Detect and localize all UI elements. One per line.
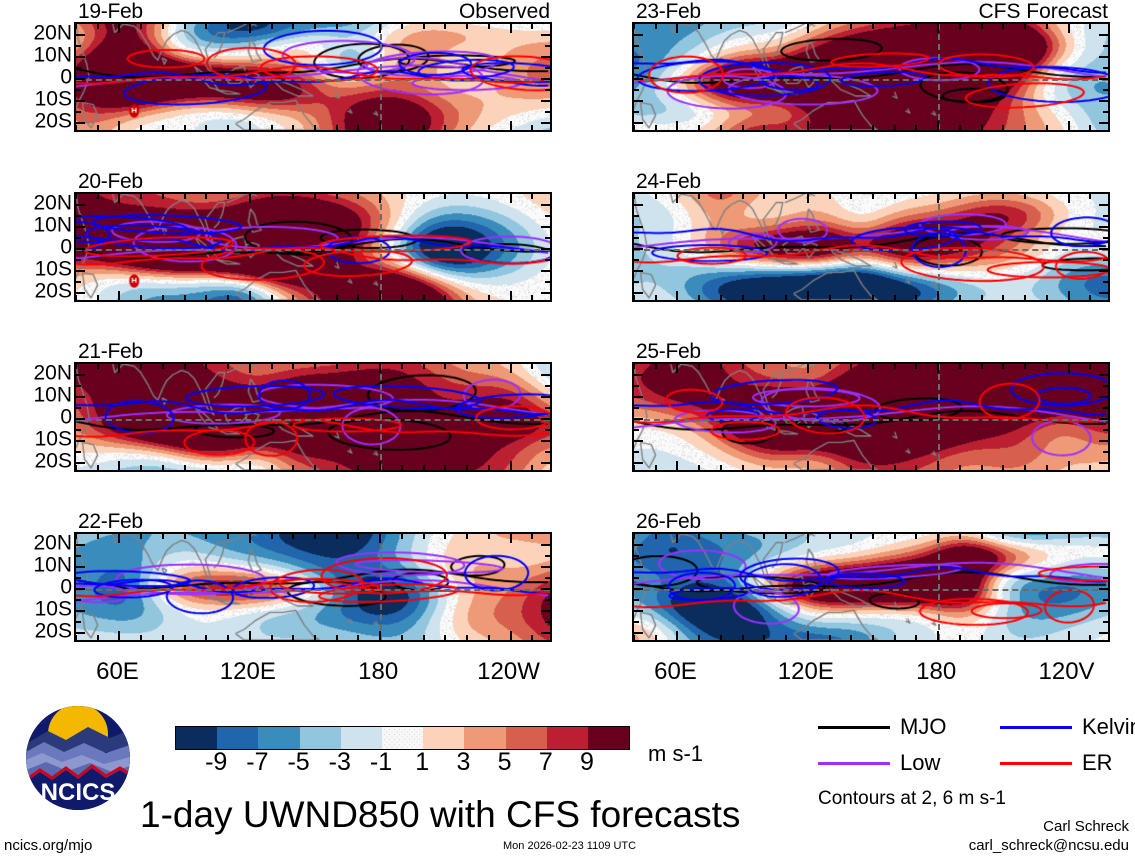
x-tick (531, 534, 533, 539)
panel-field (634, 364, 1108, 470)
y-tick-minor (1103, 259, 1108, 261)
x-tick (1068, 194, 1070, 203)
contour-note: Contours at 2, 6 m s-1 (818, 789, 1006, 809)
colorbar-segment (258, 727, 299, 749)
x-tick (655, 295, 657, 300)
x-tick (227, 465, 229, 470)
y-tick-minor (634, 451, 639, 453)
x-tick-label: 120W (477, 658, 540, 686)
x-tick (633, 364, 635, 369)
x-tick (357, 24, 359, 29)
colorbar-segment (464, 727, 505, 749)
x-tick (850, 635, 852, 640)
legend-line-swatch (818, 726, 890, 729)
y-tick-minor (76, 45, 81, 47)
x-tick (894, 295, 896, 300)
y-tick-minor (76, 407, 81, 409)
x-tick (184, 125, 186, 130)
x-tick (676, 291, 678, 300)
x-tick (655, 364, 657, 369)
x-tick (249, 364, 251, 373)
x-tick (763, 295, 765, 300)
x-tick (205, 635, 207, 640)
x-tick (720, 24, 722, 29)
y-tick-minor (76, 281, 81, 283)
y-tick-minor (545, 451, 550, 453)
x-tick (785, 24, 787, 29)
y-tick-label: 10S (35, 599, 72, 620)
y-tick-minor (1103, 555, 1108, 557)
y-tick-minor (634, 599, 639, 601)
x-tick (1002, 635, 1004, 640)
x-tick (401, 465, 403, 470)
x-tick (698, 465, 700, 470)
x-tick (959, 534, 961, 539)
x-tick (227, 635, 229, 640)
y-tick (76, 100, 85, 102)
x-tick (423, 194, 425, 199)
panel-date-label: 21-Feb (78, 341, 143, 362)
x-tick (75, 635, 77, 640)
x-tick (698, 635, 700, 640)
x-tick (205, 125, 207, 130)
x-tick (1024, 635, 1026, 640)
panel-date-label: 24-Feb (636, 171, 701, 192)
x-tick (97, 534, 99, 539)
y-tick (1099, 100, 1108, 102)
colorbar-tick-label: -5 (287, 748, 309, 776)
x-tick (1002, 194, 1004, 199)
colorbar-tick-label: -9 (205, 748, 227, 776)
x-tick (872, 534, 874, 539)
x-tick (401, 295, 403, 300)
y-tick (76, 588, 85, 590)
x-tick (97, 295, 99, 300)
y-tick-minor (634, 555, 639, 557)
x-tick (829, 534, 831, 539)
x-tick (118, 534, 120, 543)
x-tick (227, 534, 229, 539)
y-tick-minor (76, 385, 81, 387)
x-tick (249, 291, 251, 300)
x-tick (444, 534, 446, 539)
y-tick-minor (634, 215, 639, 217)
x-tick (981, 465, 983, 470)
x-tick (292, 125, 294, 130)
x-tick (510, 121, 512, 130)
x-tick (1089, 125, 1091, 130)
x-tick (698, 534, 700, 539)
x-tick (829, 24, 831, 29)
x-tick (423, 534, 425, 539)
y-tick-minor (545, 111, 550, 113)
x-tick (763, 635, 765, 640)
x-tick (379, 534, 381, 543)
equator-line (634, 249, 1108, 251)
x-tick (401, 534, 403, 539)
dateline-marker (380, 24, 382, 130)
x-tick (184, 364, 186, 369)
y-tick (76, 374, 85, 376)
x-tick (915, 534, 917, 539)
x-tick (75, 125, 77, 130)
panel-21-feb: 21-Feb (74, 362, 552, 472)
x-tick (227, 295, 229, 300)
x-tick (1002, 125, 1004, 130)
x-tick (850, 125, 852, 130)
x-tick (118, 291, 120, 300)
y-tick (541, 440, 550, 442)
y-tick-minor (76, 599, 81, 601)
x-tick (292, 534, 294, 539)
logo-text: NCICS (41, 779, 116, 806)
x-tick (829, 125, 831, 130)
x-tick (184, 295, 186, 300)
x-tick (510, 194, 512, 203)
panel-date-label: 23-Feb (636, 1, 701, 22)
y-tick-minor (76, 67, 81, 69)
x-tick (379, 121, 381, 130)
x-tick (655, 125, 657, 130)
timestamp: Mon 2026-02-23 1109 UTC (503, 840, 636, 852)
x-tick (444, 364, 446, 369)
y-tick (76, 462, 85, 464)
x-axis-left: 60E120E180120W (74, 658, 552, 688)
x-tick (118, 24, 120, 33)
x-tick (1024, 194, 1026, 199)
panel-date-label: 25-Feb (636, 341, 701, 362)
y-tick-minor (1103, 237, 1108, 239)
y-tick (634, 610, 643, 612)
x-tick (162, 465, 164, 470)
x-tick (227, 194, 229, 199)
x-tick (510, 24, 512, 33)
y-tick-minor (545, 577, 550, 579)
y-tick-minor (545, 281, 550, 283)
x-tick (850, 24, 852, 29)
x-tick (271, 194, 273, 199)
y-tick-minor (634, 45, 639, 47)
x-tick (1068, 534, 1070, 543)
x-tick (698, 295, 700, 300)
y-tick-minor (76, 577, 81, 579)
x-tick (829, 364, 831, 369)
x-tick (872, 465, 874, 470)
panel-plot-area (632, 22, 1110, 132)
x-tick (140, 635, 142, 640)
x-tick (937, 291, 939, 300)
x-tick (75, 364, 77, 369)
y-tick (541, 226, 550, 228)
y-tick-minor (634, 621, 639, 623)
y-tick-minor (1103, 67, 1108, 69)
x-tick (676, 194, 678, 203)
panel-grid: 19-FebObserved20N10N010S20S20-Feb20N10N0… (0, 0, 1135, 660)
author-name: Carl Schreck (1043, 818, 1129, 835)
y-tick-label: 0 (60, 67, 72, 88)
panel-date-label: 22-Feb (78, 511, 143, 532)
x-tick (981, 635, 983, 640)
y-axis: 20N10N010S20S (0, 192, 72, 302)
y-tick (634, 56, 643, 58)
x-tick (894, 635, 896, 640)
y-tick-minor (76, 89, 81, 91)
y-tick (541, 566, 550, 568)
x-tick (314, 534, 316, 539)
x-tick (379, 291, 381, 300)
x-tick (357, 635, 359, 640)
equator-line (76, 249, 550, 251)
y-tick (1099, 226, 1108, 228)
x-tick (466, 364, 468, 369)
x-tick (937, 121, 939, 130)
x-tick (1068, 121, 1070, 130)
y-tick (76, 632, 85, 634)
x-tick (140, 534, 142, 539)
x-tick (720, 125, 722, 130)
x-tick (1046, 194, 1048, 199)
y-tick-minor (545, 45, 550, 47)
colorbar-unit-label: m s-1 (648, 742, 703, 766)
y-tick (634, 78, 643, 80)
colorbar-tick-labels: -9-7-5-3-113579 (175, 748, 628, 778)
y-tick-minor (634, 111, 639, 113)
y-tick-minor (1103, 599, 1108, 601)
x-tick (763, 24, 765, 29)
colorbar-tick-label: 7 (539, 748, 553, 776)
y-tick-label: 10S (35, 89, 72, 110)
x-tick (720, 534, 722, 539)
panel-26-feb: 26-Feb (632, 532, 1110, 642)
y-tick-minor (1103, 577, 1108, 579)
panel-field (634, 534, 1108, 640)
x-tick (633, 295, 635, 300)
x-tick (915, 125, 917, 130)
y-tick (76, 440, 85, 442)
x-tick (872, 24, 874, 29)
x-tick (763, 364, 765, 369)
y-tick (76, 248, 85, 250)
x-tick (466, 125, 468, 130)
y-tick-minor (545, 429, 550, 431)
equator-line (76, 419, 550, 421)
x-tick (1046, 635, 1048, 640)
x-tick (698, 364, 700, 369)
y-tick-minor (634, 385, 639, 387)
x-tick (742, 364, 744, 369)
x-tick (379, 461, 381, 470)
y-tick-minor (545, 237, 550, 239)
x-tick (1024, 364, 1026, 369)
y-tick-minor (634, 237, 639, 239)
x-tick (807, 534, 809, 543)
y-tick (541, 100, 550, 102)
x-tick (444, 24, 446, 29)
y-tick (76, 610, 85, 612)
colorbar-tick-label: 3 (456, 748, 470, 776)
x-tick (379, 364, 381, 373)
x-tick (162, 125, 164, 130)
x-tick (981, 295, 983, 300)
y-axis: 20N10N010S20S (0, 362, 72, 472)
colorbar-segment (300, 727, 341, 749)
panel-24-feb: 24-Feb (632, 192, 1110, 302)
y-tick (634, 122, 643, 124)
x-tick (633, 125, 635, 130)
ncics-logo: NCICS (18, 700, 138, 820)
x-tick (357, 125, 359, 130)
x-tick (742, 534, 744, 539)
legend-item-er: ER (1000, 752, 1113, 774)
colorbar-tick-label: 9 (580, 748, 594, 776)
x-tick (720, 295, 722, 300)
y-tick-minor (545, 215, 550, 217)
y-tick (634, 544, 643, 546)
x-tick (97, 465, 99, 470)
panel-19-feb: 19-FebObserved (74, 22, 552, 132)
x-tick (249, 461, 251, 470)
y-tick-minor (1103, 89, 1108, 91)
x-tick (162, 295, 164, 300)
page-title: 1-day UWND850 with CFS forecasts (140, 794, 740, 836)
x-tick (915, 364, 917, 369)
dateline-marker (938, 364, 940, 470)
y-tick (1099, 588, 1108, 590)
x-tick (205, 364, 207, 369)
y-tick (1099, 248, 1108, 250)
x-tick (205, 534, 207, 539)
y-tick-label: 20N (33, 363, 72, 384)
panel-field (76, 364, 550, 470)
x-tick (655, 534, 657, 539)
x-tick (763, 125, 765, 130)
x-tick (655, 194, 657, 199)
y-tick (1099, 270, 1108, 272)
y-tick (1099, 34, 1108, 36)
x-tick (872, 194, 874, 199)
x-tick (763, 194, 765, 199)
x-tick (423, 125, 425, 130)
x-tick (314, 364, 316, 369)
y-tick (634, 396, 643, 398)
site-url: ncics.org/mjo (4, 838, 92, 854)
x-tick (357, 465, 359, 470)
legend-item-mjo: MJO (818, 716, 946, 738)
y-tick (541, 544, 550, 546)
y-tick (541, 396, 550, 398)
x-tick (698, 194, 700, 199)
x-tick (720, 194, 722, 199)
x-tick (423, 364, 425, 369)
x-tick (829, 194, 831, 199)
x-tick (850, 295, 852, 300)
x-tick (1046, 364, 1048, 369)
x-tick (97, 24, 99, 29)
x-tick (184, 24, 186, 29)
colorbar-segment (382, 727, 423, 749)
x-tick (850, 194, 852, 199)
colorbar-tick-label: -1 (370, 748, 392, 776)
colorbar (175, 726, 630, 750)
x-tick (466, 24, 468, 29)
x-tick (937, 631, 939, 640)
x-tick (510, 364, 512, 373)
x-tick (292, 194, 294, 199)
x-tick (140, 465, 142, 470)
colorbar-segment (506, 727, 547, 749)
legend-line-swatch (1000, 726, 1072, 729)
colorbar-segment (176, 727, 217, 749)
x-tick (763, 465, 765, 470)
y-tick (541, 34, 550, 36)
x-tick (531, 125, 533, 130)
x-tick (915, 295, 917, 300)
y-tick (1099, 440, 1108, 442)
y-tick (541, 462, 550, 464)
x-tick (292, 295, 294, 300)
x-tick (937, 461, 939, 470)
y-tick (634, 440, 643, 442)
x-tick (807, 24, 809, 33)
x-tick (488, 125, 490, 130)
x-tick (271, 295, 273, 300)
x-tick (633, 534, 635, 539)
x-tick (1024, 465, 1026, 470)
y-tick (1099, 462, 1108, 464)
x-tick (850, 364, 852, 369)
x-tick (742, 635, 744, 640)
x-tick (655, 635, 657, 640)
x-tick (314, 465, 316, 470)
x-tick (75, 534, 77, 539)
x-tick (162, 534, 164, 539)
x-tick (1068, 631, 1070, 640)
x-tick (510, 631, 512, 640)
panel-plot-area (74, 192, 552, 302)
y-tick (541, 122, 550, 124)
y-tick-minor (1103, 451, 1108, 453)
x-tick (1046, 534, 1048, 539)
x-tick (466, 295, 468, 300)
x-tick (314, 635, 316, 640)
y-tick (76, 544, 85, 546)
x-tick (1089, 534, 1091, 539)
y-tick (1099, 374, 1108, 376)
x-tick (97, 125, 99, 130)
x-tick (249, 631, 251, 640)
y-tick-minor (1103, 429, 1108, 431)
x-tick (444, 295, 446, 300)
x-tick-label: 120E (220, 658, 276, 686)
y-tick-minor (1103, 385, 1108, 387)
x-tick (184, 194, 186, 199)
y-tick-minor (76, 111, 81, 113)
panel-field (76, 24, 550, 130)
x-tick (676, 121, 678, 130)
x-tick (894, 125, 896, 130)
panel-date-label: 26-Feb (636, 511, 701, 532)
y-tick-label: 10N (33, 45, 72, 66)
x-tick (314, 194, 316, 199)
x-tick (1046, 24, 1048, 29)
y-tick-minor (545, 407, 550, 409)
y-tick (76, 566, 85, 568)
y-tick-minor (634, 67, 639, 69)
x-tick (379, 631, 381, 640)
y-tick-label: 0 (60, 407, 72, 428)
y-tick (634, 248, 643, 250)
x-tick (227, 125, 229, 130)
